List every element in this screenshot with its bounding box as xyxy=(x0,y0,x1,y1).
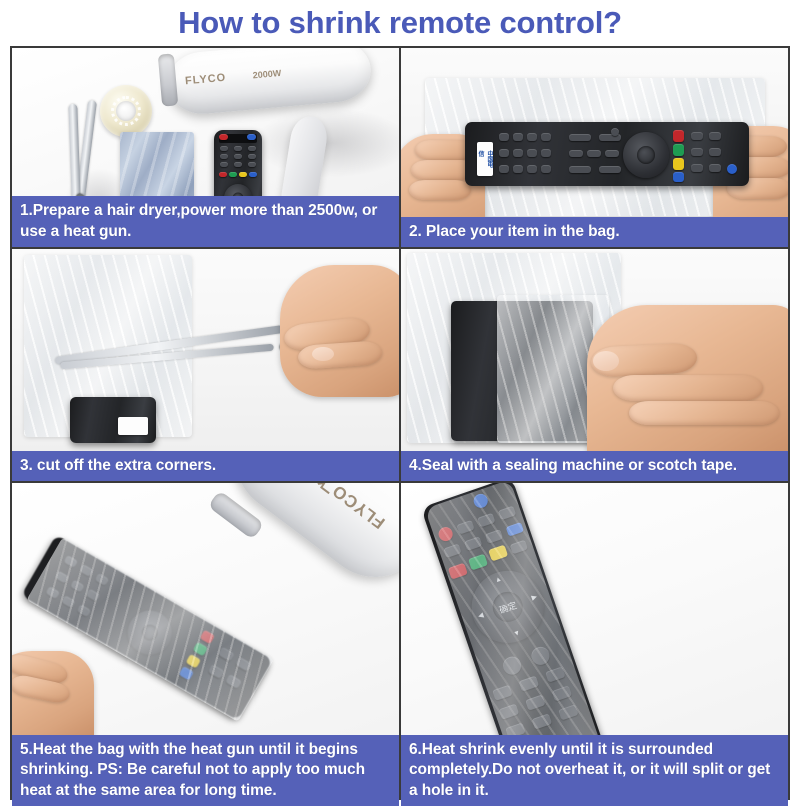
thumb-nail xyxy=(593,351,619,371)
step-4-caption: 4.Seal with a sealing machine or scotch … xyxy=(401,451,788,481)
step-5-caption: 5.Heat the bag with the heat gun until i… xyxy=(12,735,399,806)
remote-sticker: 中国电信 xyxy=(477,142,493,176)
step-1-caption: 1.Prepare a hair dryer,power more than 2… xyxy=(12,196,399,247)
step-2-caption: 2. Place your item in the bag. xyxy=(401,217,788,247)
hair-dryer-brand: FLYCO xyxy=(185,72,227,88)
step-panel-5: FLYCO飞科 5.Heat the bag with the heat gun… xyxy=(12,483,399,806)
step-6-caption: 6.Heat shrink evenly until it is surroun… xyxy=(401,735,788,806)
sticker-logo-text: 中国电信 xyxy=(477,151,493,168)
hair-dryer-brand: FLYCO飞科 xyxy=(297,483,390,537)
step-3-photo xyxy=(12,249,399,481)
hair-dryer-model: 2000W xyxy=(252,68,281,80)
remote-control: 中国电信 xyxy=(465,122,749,186)
step-panel-4: 4.Seal with a sealing machine or scotch … xyxy=(401,249,788,481)
tape-roll-icon xyxy=(100,85,152,137)
step-4-photo xyxy=(401,249,788,481)
step-panel-2: 中国电信 xyxy=(401,48,788,247)
step-panel-1: FLYCO 2000W 1.Prepare a hair dryer,power… xyxy=(12,48,399,247)
step-panel-3: 3. cut off the extra corners. xyxy=(12,249,399,481)
step-3-caption: 3. cut off the extra corners. xyxy=(12,451,399,481)
remote-control xyxy=(70,397,156,443)
title-bar: How to shrink remote control? xyxy=(0,0,800,46)
page-title: How to shrink remote control? xyxy=(178,5,622,41)
infographic-page: How to shrink remote control? xyxy=(0,0,800,800)
steps-grid: FLYCO 2000W 1.Prepare a hair dryer,power… xyxy=(10,46,790,800)
step-panel-6: 确定 ▲ ▼ ◀ ▶ xyxy=(401,483,788,806)
